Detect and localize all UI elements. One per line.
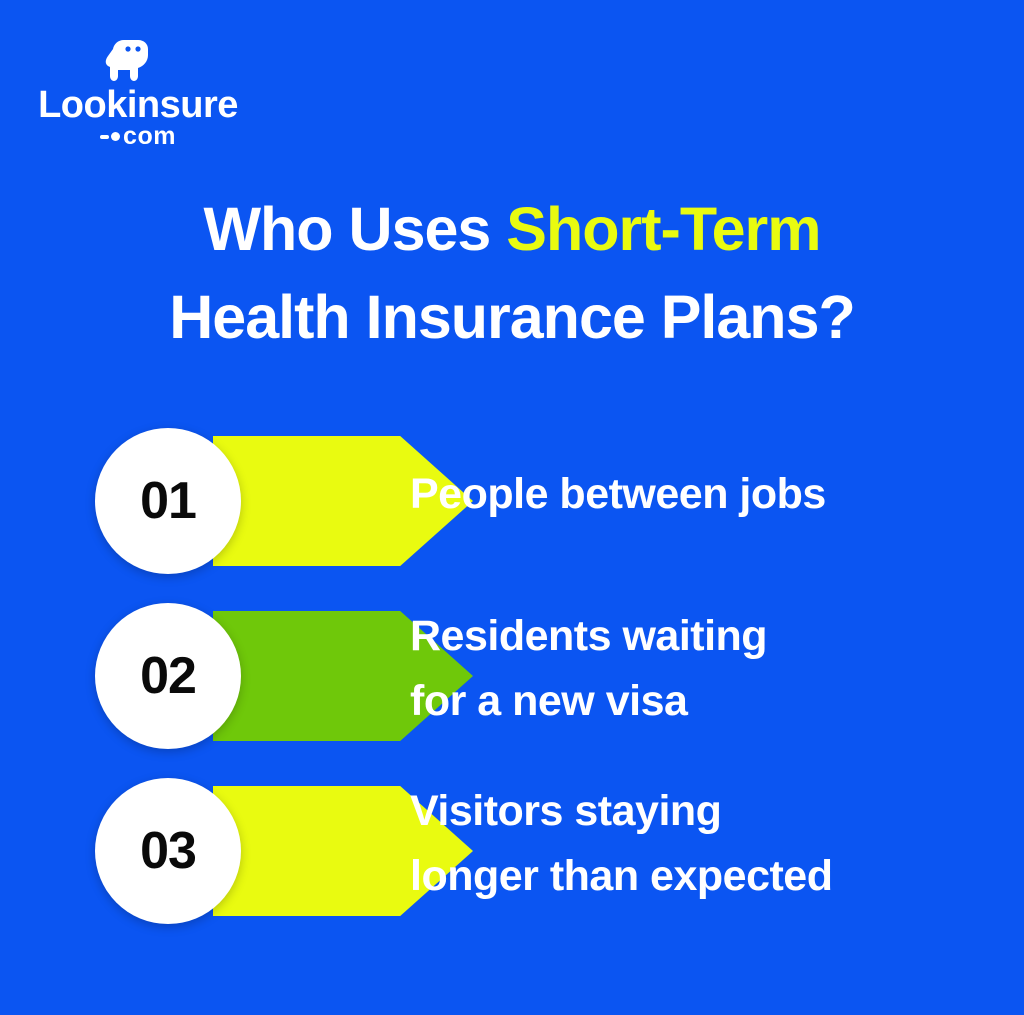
- list-item-text-2: Residents waiting for a new visa: [410, 595, 1020, 743]
- number-circle-3: 03: [95, 778, 241, 924]
- list-item-badge-3: 03: [95, 778, 385, 926]
- list-item-text-3: Visitors staying longer than expected: [410, 770, 1020, 918]
- page-title-line-1: Who Uses Short-Term: [0, 185, 1024, 273]
- dot-icon: [111, 132, 120, 141]
- page-title-accent: Short-Term: [506, 195, 820, 263]
- page-title: Who Uses Short-Term Health Insurance Pla…: [0, 185, 1024, 361]
- list-item-line-1: Visitors staying: [410, 779, 1020, 844]
- list-item: 01 People between jobs: [0, 420, 1024, 595]
- list-item: 02 Residents waiting for a new visa: [0, 595, 1024, 770]
- dash-icon: [100, 135, 109, 139]
- brand-tld-row: com: [18, 124, 258, 149]
- benefits-list: 01 People between jobs 02 Residents wait…: [0, 420, 1024, 945]
- list-item-text-1: People between jobs: [410, 420, 1020, 568]
- list-item-line-1: Residents waiting: [410, 604, 1020, 669]
- list-item-number: 02: [140, 650, 196, 702]
- number-circle-2: 02: [95, 603, 241, 749]
- list-item-badge-2: 02: [95, 603, 385, 751]
- list-item-number: 03: [140, 825, 196, 877]
- list-item-badge-1: 01: [95, 428, 385, 576]
- list-item-line-2: for a new visa: [410, 669, 1020, 734]
- brand-tld: com: [123, 124, 176, 149]
- number-circle-1: 01: [95, 428, 241, 574]
- list-item: 03 Visitors staying longer than expected: [0, 770, 1024, 945]
- page-title-line-2: Health Insurance Plans?: [0, 273, 1024, 361]
- page-title-plain: Who Uses: [203, 195, 506, 263]
- list-item-line-1: People between jobs: [410, 462, 1020, 527]
- brand-wordmark: Lookinsure: [18, 84, 258, 126]
- list-item-line-2: longer than expected: [410, 844, 1020, 909]
- dinosaur-logo-icon: [100, 38, 162, 84]
- list-item-number: 01: [140, 475, 196, 527]
- brand-logo[interactable]: Lookinsure com: [18, 38, 258, 150]
